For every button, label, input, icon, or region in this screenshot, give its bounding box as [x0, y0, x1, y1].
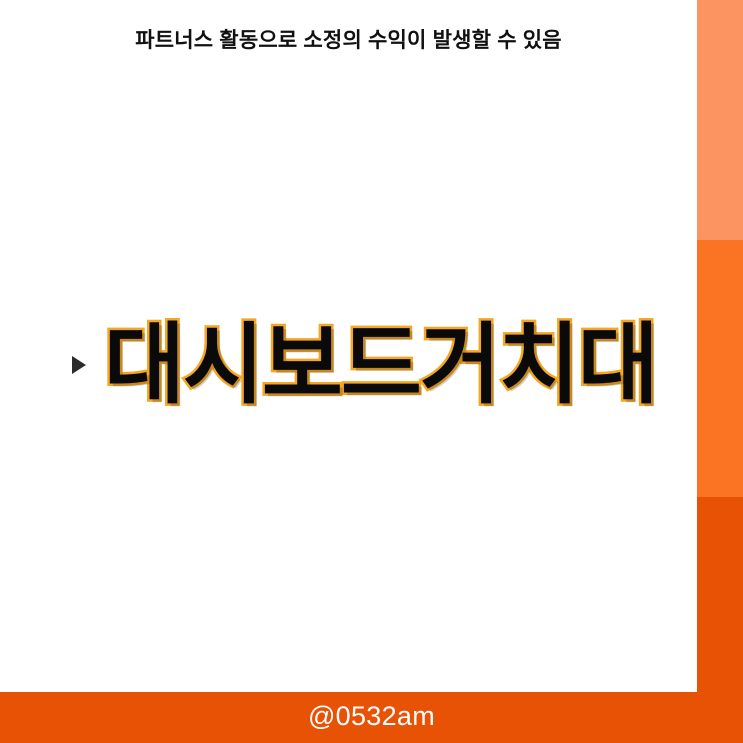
side-band-medium-orange: [697, 240, 743, 497]
headline-row: 대시보드거치대: [0, 310, 697, 420]
side-color-strip: [697, 0, 743, 743]
footer-handle-label: @0532am: [308, 703, 435, 732]
side-band-light-orange: [697, 0, 743, 240]
slide-canvas: @0532am 파트너스 활동으로 소정의 수익이 발생할 수 있음 대시보드거…: [0, 0, 743, 743]
affiliate-disclaimer-text: 파트너스 활동으로 소정의 수익이 발생할 수 있음: [0, 24, 697, 54]
content-card: 파트너스 활동으로 소정의 수익이 발생할 수 있음 대시보드거치대: [0, 0, 697, 692]
headline-title: 대시보드거치대: [104, 321, 657, 409]
triangle-right-icon: [70, 354, 88, 376]
footer-bar: @0532am: [0, 692, 743, 743]
